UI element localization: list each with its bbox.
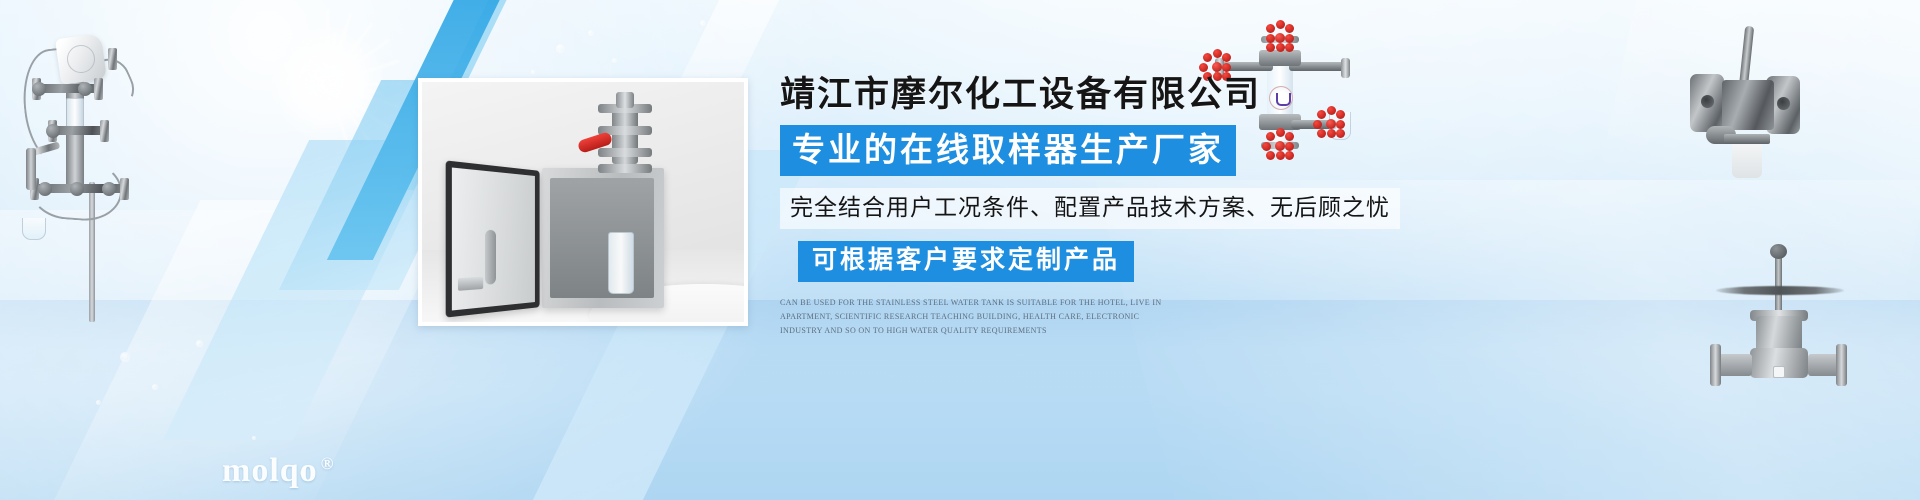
product-photo-sampler-cabinet: [418, 78, 748, 326]
english-caption: CAN BE USED FOR THE STAINLESS STEEL WATE…: [780, 296, 1180, 337]
company-name: 靖江市摩尔化工设备有限公司: [780, 74, 1420, 115]
headline-badge: 专业的在线取样器生产厂家: [780, 125, 1236, 176]
watermark-logo-text: molqo: [222, 452, 318, 489]
registered-trademark-icon: ®: [321, 454, 335, 473]
red-handwheel-icon: [1266, 24, 1294, 52]
product-online-sampler-analyzer: [10, 22, 180, 312]
product-lever-sampling-valve: [1670, 22, 1820, 182]
watermark-logo: molqo®: [222, 452, 334, 490]
tagline-text: 完全结合用户工况条件、配置产品技术方案、无后顾之忧: [780, 188, 1400, 229]
custom-product-badge: 可根据客户要求定制产品: [798, 241, 1134, 282]
banner-copy-block: 靖江市摩尔化工设备有限公司 专业的在线取样器生产厂家 完全结合用户工况条件、配置…: [780, 74, 1420, 338]
promo-banner: 靖江市摩尔化工设备有限公司 专业的在线取样器生产厂家 完全结合用户工况条件、配置…: [0, 0, 1920, 500]
product-gate-valve: [1700, 228, 1860, 388]
